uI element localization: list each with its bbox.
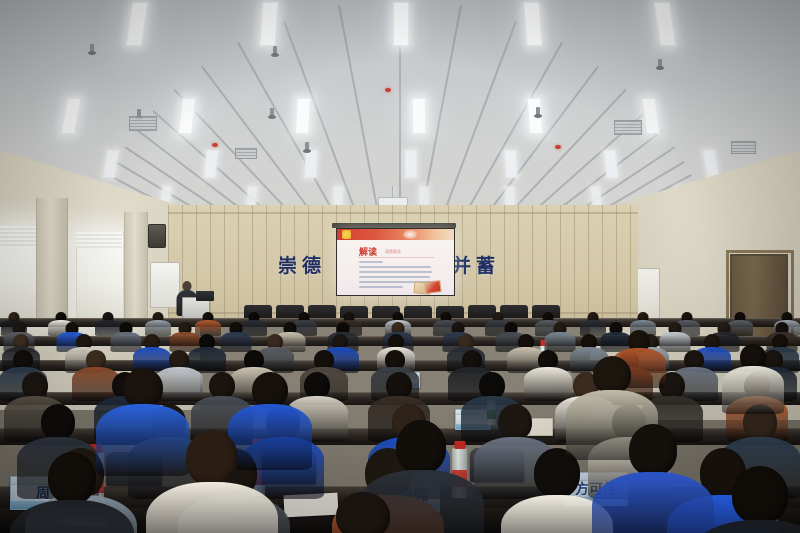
slide-body-line <box>359 261 383 263</box>
wall-panel-seam <box>238 205 239 325</box>
ceiling-light-fixture <box>590 186 602 206</box>
audience-head <box>396 420 446 474</box>
audience-head <box>48 452 96 504</box>
audience-head <box>123 368 163 408</box>
ceiling-light-fixture <box>259 2 278 46</box>
wall-panel-seam <box>224 205 225 325</box>
audience-head <box>22 372 48 399</box>
ceiling-light-fixture <box>405 150 417 178</box>
sprinkler-head <box>273 46 277 55</box>
ceiling-panel-seam <box>237 42 401 222</box>
conference-room-photo: 崇德 并蓄 解读 政策解读 <box>0 0 800 533</box>
ceiling-light-fixture <box>419 186 429 206</box>
ceiling-light-fixture <box>393 2 409 46</box>
audience-head <box>41 404 75 440</box>
ceiling-light-fixture <box>103 150 120 178</box>
ceiling-light-fixture <box>295 98 311 134</box>
smoke-detector-icon <box>385 88 391 92</box>
ceiling-light-fixture <box>641 98 660 134</box>
wall-panel-seam <box>602 205 603 325</box>
slide-subtitle: 政策解读 <box>385 249 401 255</box>
slide-body-line <box>359 276 430 278</box>
hvac-vent <box>614 120 642 135</box>
front-wall-rail <box>168 212 638 214</box>
slide-header-band <box>337 229 454 240</box>
ceiling-light-fixture <box>504 186 515 206</box>
ceiling-light-fixture <box>304 150 317 178</box>
audience-head <box>498 404 532 440</box>
ceiling-light-fixture <box>126 2 149 46</box>
laptop-on-podium <box>196 291 214 301</box>
audience-head <box>479 372 505 399</box>
party-emblem-icon <box>342 230 351 239</box>
hvac-vent <box>235 148 257 159</box>
sprinkler-head <box>305 142 309 151</box>
wall-panel-seam <box>630 205 631 325</box>
audience-head <box>593 356 631 394</box>
audience-torso <box>10 500 134 533</box>
pillar-left-b <box>124 212 148 326</box>
smoke-detector-icon <box>555 145 561 149</box>
sprinkler-head <box>90 44 94 53</box>
slide-document-image-a <box>424 280 441 294</box>
audience-torso <box>146 482 278 533</box>
wall-speaker-left <box>148 224 166 248</box>
audience-member-white-vest <box>722 344 784 418</box>
ceiling-light-fixture <box>203 150 218 178</box>
slide-body-line <box>359 286 403 288</box>
audience-torso <box>690 520 800 533</box>
audience-head <box>386 372 412 399</box>
audience-member-front-row <box>300 492 426 533</box>
ceiling-light-fixture <box>504 150 518 178</box>
slide-light-glow <box>403 230 417 239</box>
hvac-vent <box>129 116 157 131</box>
ceiling-light-fixture <box>603 150 618 178</box>
sprinkler-head <box>270 108 274 117</box>
wall-calligraphy-left: 崇德 <box>278 251 326 278</box>
audience-member-dark-coat <box>10 452 134 533</box>
audience-head <box>186 430 238 486</box>
ceiling-light-fixture <box>703 150 720 178</box>
wall-panel-seam <box>574 205 575 325</box>
projection-screen: 解读 政策解读 <box>336 228 455 296</box>
ceiling-light-fixture <box>246 186 258 206</box>
pillar-left-a <box>36 198 68 326</box>
slide-content: 解读 政策解读 <box>337 229 454 295</box>
slide-body-line <box>359 266 431 268</box>
ceiling-light-fixture <box>412 98 426 134</box>
sprinkler-head <box>658 59 662 68</box>
ceiling-light-fixture <box>61 98 82 134</box>
hvac-vent <box>731 141 756 154</box>
sprinkler-head <box>536 107 540 116</box>
audience-head <box>252 372 288 408</box>
wall-panel-seam <box>616 205 617 325</box>
ceiling-panel-seam <box>201 66 401 222</box>
wall-panel-seam <box>560 205 561 325</box>
audience-member-cream-coat <box>146 430 278 533</box>
audience-torso <box>722 366 784 414</box>
audience-member-front-row <box>690 466 800 533</box>
audience-head <box>629 424 677 476</box>
ceiling-light-fixture <box>178 98 196 134</box>
ceiling-light-fixture <box>654 2 677 46</box>
ceiling-light-fixture <box>523 2 542 46</box>
audience-head <box>732 466 788 524</box>
audience-head <box>336 492 390 533</box>
slide-divider <box>358 257 434 258</box>
window-blind-left-near <box>76 232 122 248</box>
ceiling-light-fixture <box>333 186 344 206</box>
smoke-detector-icon <box>212 143 218 147</box>
wall-panel-seam <box>588 205 589 325</box>
wall-calligraphy-right: 并蓄 <box>452 251 500 278</box>
wall-panel-seam <box>210 205 211 325</box>
slide-body-line <box>359 271 432 273</box>
